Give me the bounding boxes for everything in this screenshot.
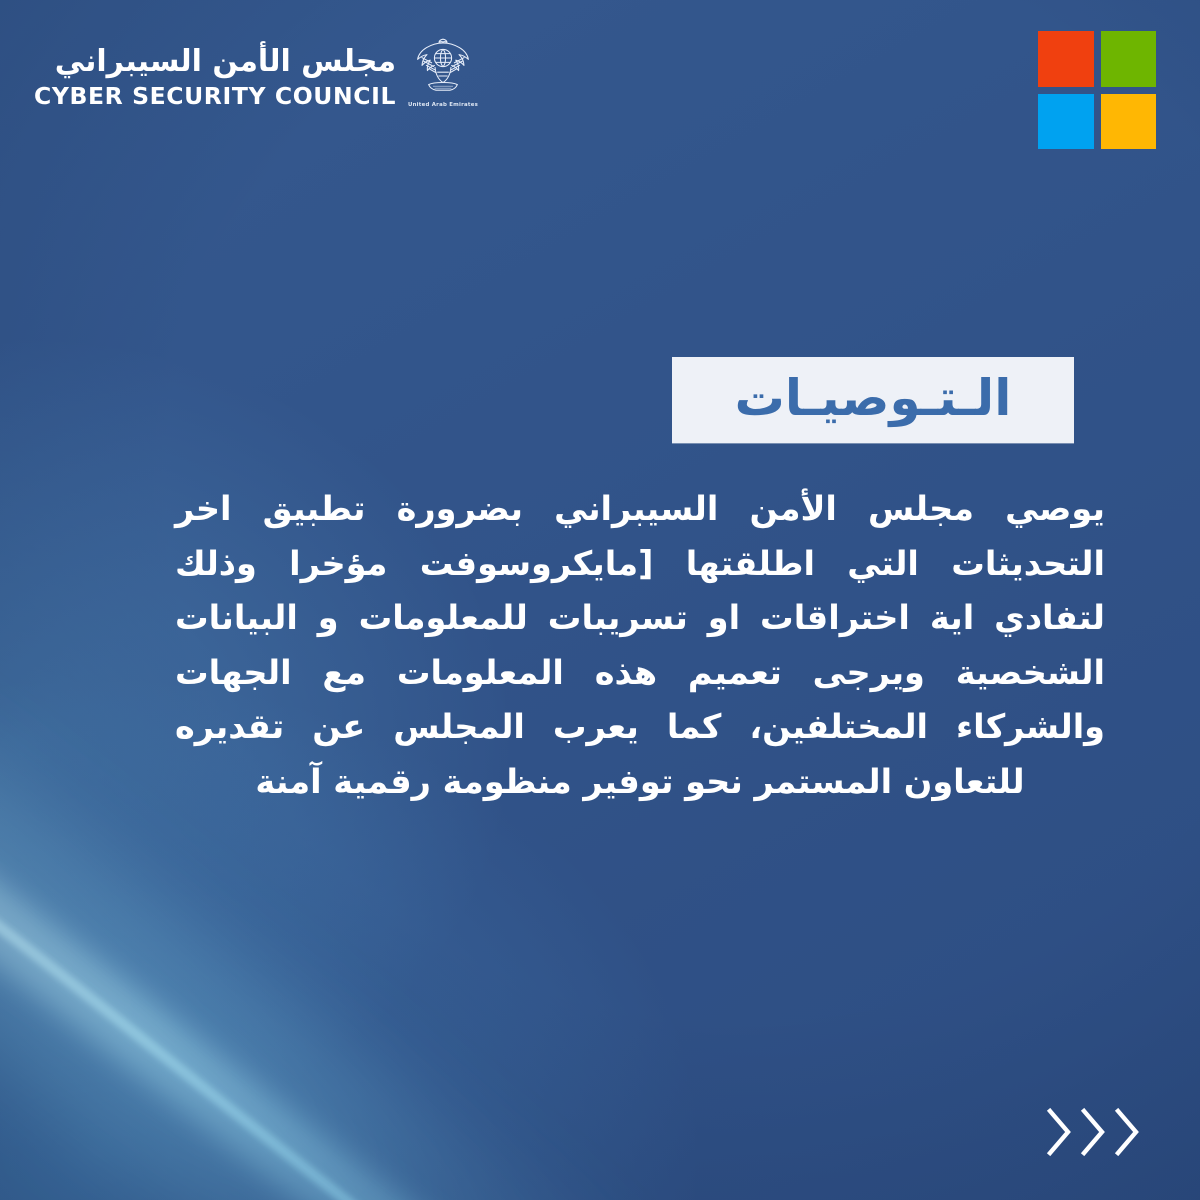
poster-canvas: مجلس الأمن السيبراني CYBER SECURITY COUN… <box>0 0 1200 1200</box>
swipe-hint-chevrons[interactable] <box>1044 1106 1142 1158</box>
brand-name-english: CYBER SECURITY COUNCIL <box>34 82 396 110</box>
uae-falcon-emblem-icon: United Arab Emirates <box>410 34 476 120</box>
brand-lockup: مجلس الأمن السيبراني CYBER SECURITY COUN… <box>34 34 476 120</box>
microsoft-blue-square <box>1038 94 1094 150</box>
microsoft-logo <box>1038 31 1156 149</box>
section-title-label: الـتـوصيـات <box>735 373 1012 423</box>
recommendation-paragraph: يوصي مجلس الأمن السيبراني بضرورة تطبيق ا… <box>175 482 1105 810</box>
brand-text-block: مجلس الأمن السيبراني CYBER SECURITY COUN… <box>34 44 396 111</box>
chevron-right-icon <box>1044 1106 1074 1158</box>
recommendation-body-text: يوصي مجلس الأمن السيبراني بضرورة تطبيق ا… <box>175 482 1105 810</box>
microsoft-yellow-square <box>1101 94 1157 150</box>
microsoft-green-square <box>1101 31 1157 87</box>
brand-name-arabic: مجلس الأمن السيبراني <box>34 44 396 79</box>
chevron-right-icon <box>1112 1106 1142 1158</box>
chevron-right-icon <box>1078 1106 1108 1158</box>
section-title-plate: الـتـوصيـات <box>672 357 1074 443</box>
header: مجلس الأمن السيبراني CYBER SECURITY COUN… <box>0 0 1200 175</box>
emblem-caption: United Arab Emirates <box>408 102 478 108</box>
microsoft-red-square <box>1038 31 1094 87</box>
